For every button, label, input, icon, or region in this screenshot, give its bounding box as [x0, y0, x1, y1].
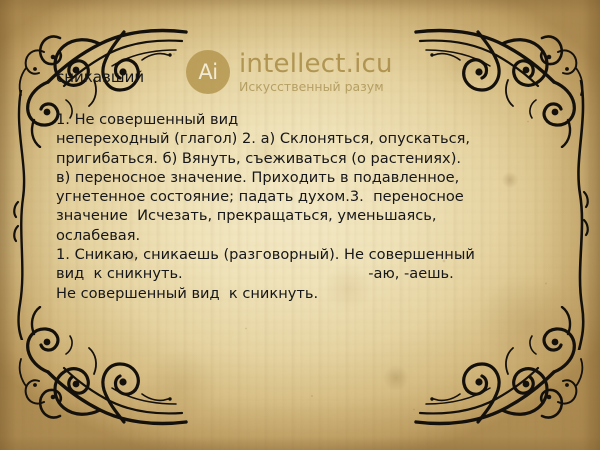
parchment-page: Ai intellect.icu Искусственный разум сни…	[0, 0, 600, 450]
definition-line: 1. Сникаю, сникаешь (разговорный). Не со…	[56, 245, 561, 264]
entry-definition: 1. Не совершенный вид непереходный (глаг…	[56, 110, 561, 303]
definition-line: в) переносное значение. Приходить в пода…	[56, 168, 561, 187]
definition-line: угнетенное состояние; падать духом.3. пе…	[56, 187, 561, 206]
definition-line: пригибаться. б) Вянуть, съеживаться (о р…	[56, 149, 561, 168]
entry-headword: сникавший	[56, 68, 144, 86]
definition-line: Не совершенный вид к сникнуть.	[56, 284, 561, 303]
definition-line: значение Исчезать, прекращаться, уменьша…	[56, 206, 561, 225]
definition-line: непереходный (глагол) 2. а) Склоняться, …	[56, 129, 561, 148]
definition-line: 1. Не совершенный вид	[56, 110, 561, 129]
definition-line: вид к сникнуть. -аю, -аешь.	[56, 264, 561, 283]
definition-line: ослабевая.	[56, 226, 561, 245]
